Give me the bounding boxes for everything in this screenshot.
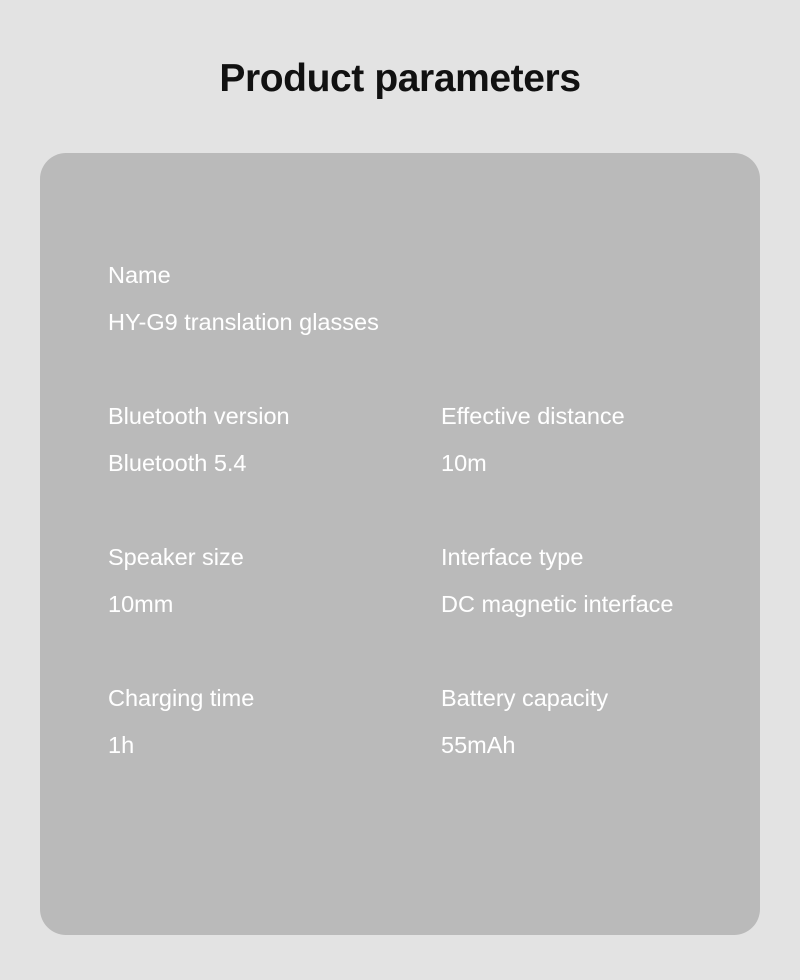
spec-cell-name: Name HY-G9 translation glasses xyxy=(108,260,428,337)
spec-label: Interface type xyxy=(441,542,761,572)
spec-label: Speaker size xyxy=(108,542,428,572)
spec-value: HY-G9 translation glasses xyxy=(108,307,428,337)
spec-cell-bluetooth-version: Bluetooth version Bluetooth 5.4 xyxy=(108,401,428,478)
spec-label: Battery capacity xyxy=(441,683,761,713)
spec-cell-battery-capacity: Battery capacity 55mAh xyxy=(441,683,761,760)
spec-value: 55mAh xyxy=(441,730,761,760)
spec-cell-interface-type: Interface type DC magnetic interface xyxy=(441,542,761,619)
spec-cell-speaker-size: Speaker size 10mm xyxy=(108,542,428,619)
spec-row: Name HY-G9 translation glasses xyxy=(40,260,760,356)
spec-value: DC magnetic interface xyxy=(441,589,761,619)
spec-row: Speaker size 10mm Interface type DC magn… xyxy=(40,542,760,638)
spec-row: Bluetooth version Bluetooth 5.4 Effectiv… xyxy=(40,401,760,497)
spec-cell-effective-distance: Effective distance 10m xyxy=(441,401,761,478)
spec-value: Bluetooth 5.4 xyxy=(108,448,428,478)
spec-value: 10m xyxy=(441,448,761,478)
spec-label: Charging time xyxy=(108,683,428,713)
spec-row: Charging time 1h Battery capacity 55mAh xyxy=(40,683,760,779)
spec-label: Effective distance xyxy=(441,401,761,431)
spec-label: Name xyxy=(108,260,428,290)
spec-value: 10mm xyxy=(108,589,428,619)
spec-cell-charging-time: Charging time 1h xyxy=(108,683,428,760)
spec-value: 1h xyxy=(108,730,428,760)
page-title: Product parameters xyxy=(0,56,800,102)
spec-label: Bluetooth version xyxy=(108,401,428,431)
product-parameters-card: Name HY-G9 translation glasses Bluetooth… xyxy=(40,153,760,935)
